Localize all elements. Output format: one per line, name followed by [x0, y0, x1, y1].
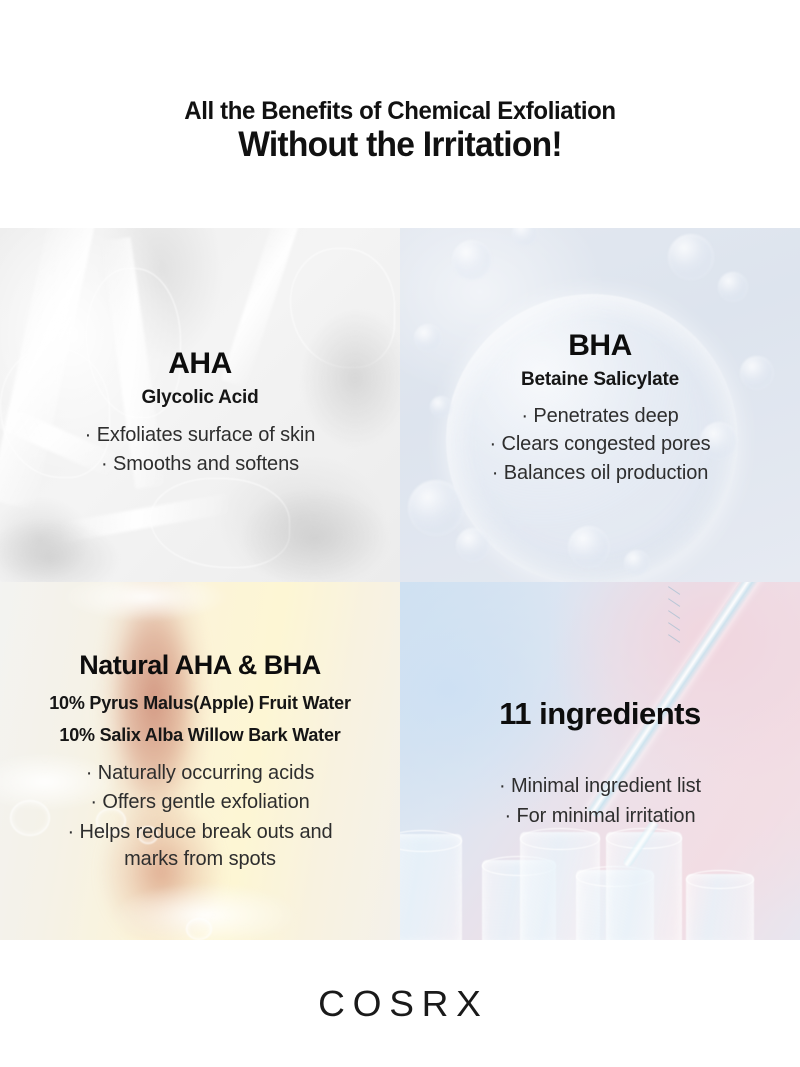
natural-bullet-2: · Offers gentle exfoliation — [0, 789, 400, 816]
benefits-grid: AHA Glycolic Acid · Exfoliates surface o… — [0, 228, 800, 940]
bha-bullet-3: · Balances oil production — [400, 460, 800, 487]
natural-subtitle-2: 10% Salix Alba Willow Bark Water — [0, 724, 400, 747]
headline-line-2: Without the Irritation! — [16, 124, 784, 167]
natural-title: Natural AHA & BHA — [0, 650, 400, 680]
bha-content: BHA Betaine Salicylate · Penetrates deep… — [400, 323, 800, 486]
bha-title: BHA — [400, 329, 800, 363]
ingredients-bullet-2: · For minimal irritation — [400, 803, 800, 830]
aha-title: AHA — [0, 347, 400, 381]
aha-subtitle: Glycolic Acid — [0, 386, 400, 411]
footer: COSRX — [0, 940, 800, 1067]
natural-content: Natural AHA & BHA 10% Pyrus Malus(Apple)… — [0, 650, 400, 872]
panel-ingredients: 11 ingredients · Minimal ingredient list… — [400, 582, 800, 940]
panel-aha: AHA Glycolic Acid · Exfoliates surface o… — [0, 228, 400, 582]
bha-bullet-2: · Clears congested pores — [400, 431, 800, 458]
natural-subtitle-1: 10% Pyrus Malus(Apple) Fruit Water — [0, 692, 400, 715]
bha-subtitle: Betaine Salicylate — [400, 368, 800, 393]
panel-bha: BHA Betaine Salicylate · Penetrates deep… — [400, 228, 800, 582]
natural-bullet-1: · Naturally occurring acids — [0, 760, 400, 787]
ingredients-title: 11 ingredients — [400, 697, 800, 732]
natural-bullet-3: · Helps reduce break outs and — [0, 819, 400, 846]
natural-bullet-3-continued: marks from spots — [0, 846, 400, 873]
panel-natural-aha-bha: Natural AHA & BHA 10% Pyrus Malus(Apple)… — [0, 582, 400, 940]
bha-bullet-1: · Penetrates deep — [400, 403, 800, 430]
aha-bullet-1: · Exfoliates surface of skin — [0, 422, 400, 449]
aha-content: AHA Glycolic Acid · Exfoliates surface o… — [0, 333, 400, 477]
cosrx-logo: COSRX — [311, 983, 489, 1025]
ingredients-content: 11 ingredients · Minimal ingredient list… — [400, 693, 800, 830]
page-headline: All the Benefits of Chemical Exfoliation… — [0, 0, 800, 167]
headline-line-1: All the Benefits of Chemical Exfoliation — [16, 98, 784, 124]
aha-bullet-2: · Smooths and softens — [0, 451, 400, 478]
ingredients-bullet-1: · Minimal ingredient list — [400, 773, 800, 800]
